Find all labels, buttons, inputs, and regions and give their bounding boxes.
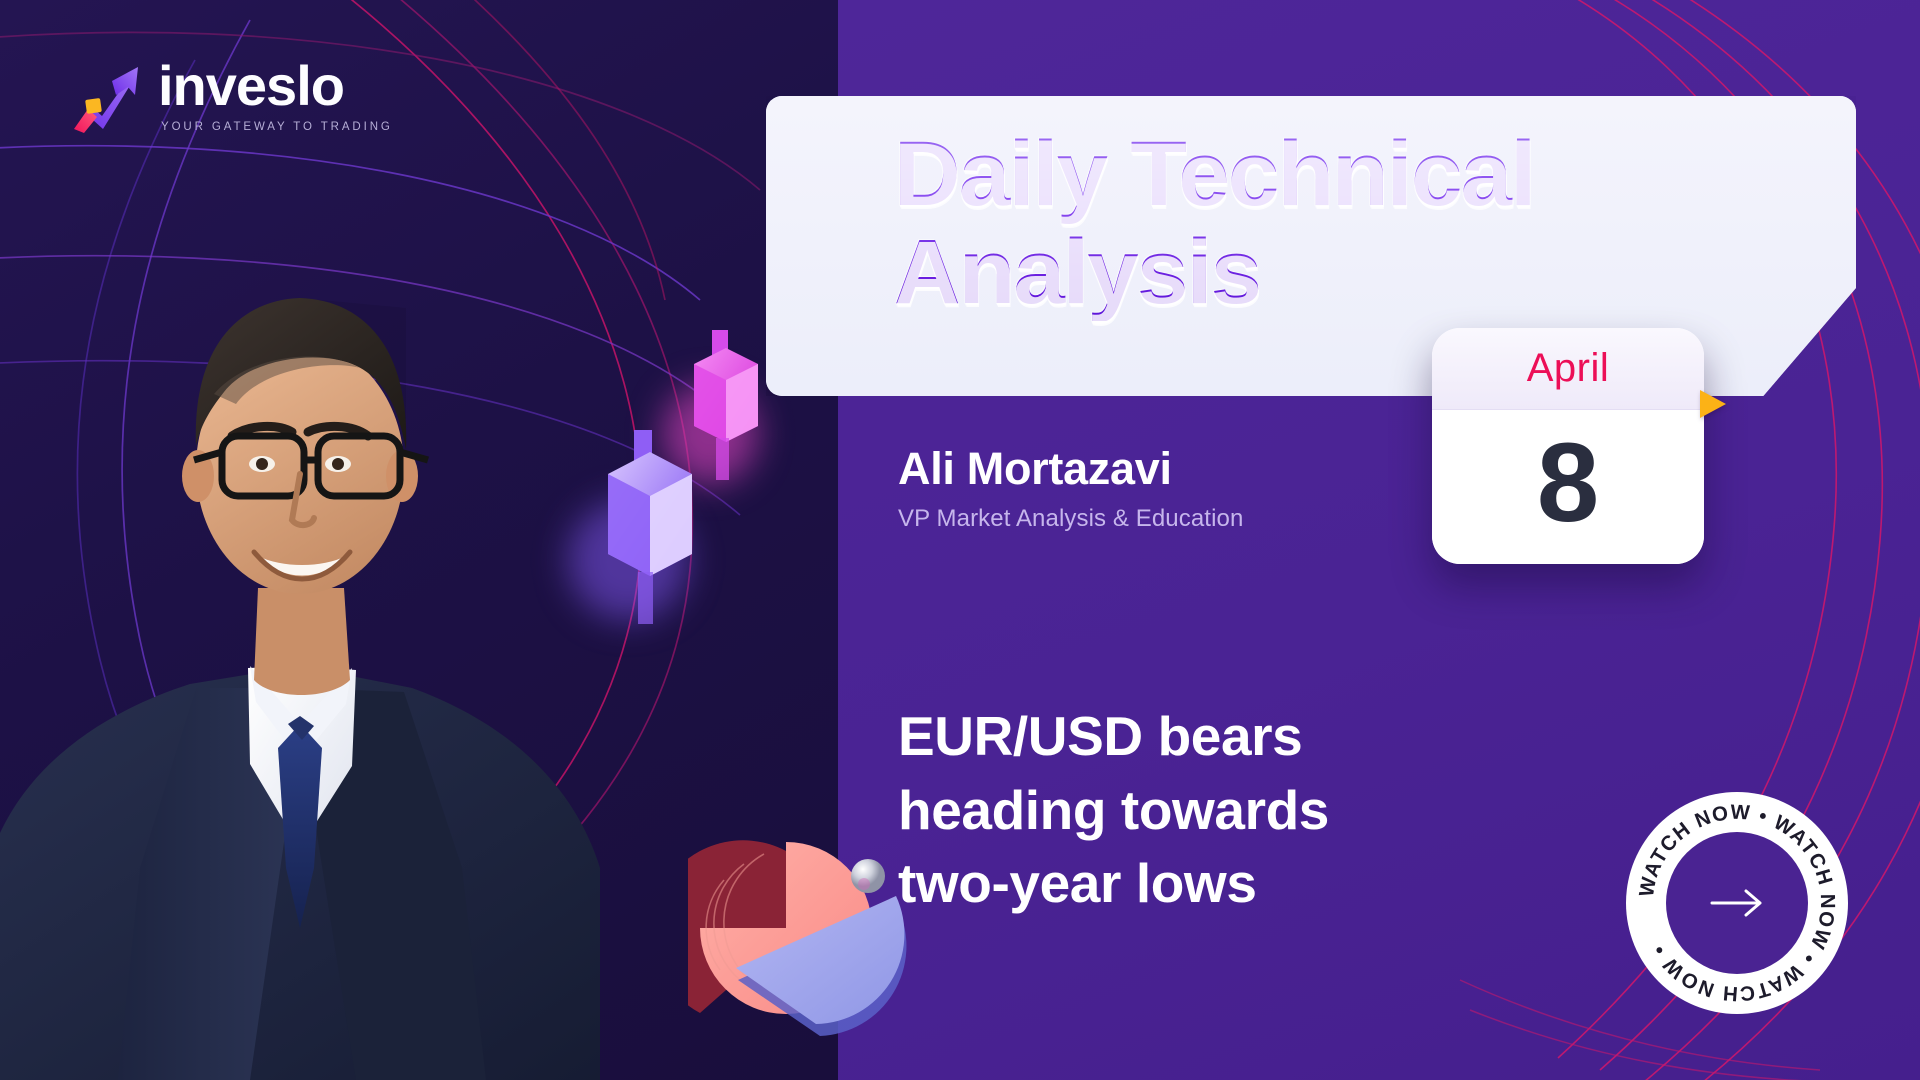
arrow-growth-icon bbox=[72, 59, 142, 133]
headline-line-3: two-year lows bbox=[898, 847, 1329, 921]
presenter-portrait bbox=[0, 168, 600, 1080]
title-line-1: Daily Technical bbox=[894, 126, 1535, 224]
headline-line-1: EUR/USD bears bbox=[898, 700, 1329, 774]
pie-chart-3d-icon bbox=[688, 828, 918, 1048]
calendar-month: April bbox=[1527, 346, 1610, 391]
calendar-widget: April 8 bbox=[1432, 328, 1704, 564]
calendar-header: April bbox=[1432, 328, 1704, 410]
arrow-right-icon bbox=[1706, 887, 1768, 919]
calendar-day: 8 bbox=[1537, 427, 1599, 539]
watch-now-center[interactable] bbox=[1666, 832, 1808, 974]
watch-now-button[interactable]: WATCH NOW • WATCH NOW • WATCH NOW • bbox=[1626, 792, 1848, 1014]
speaker-name: Ali Mortazavi bbox=[898, 443, 1243, 495]
headline-line-2: heading towards bbox=[898, 774, 1329, 848]
brand-name: inveslo bbox=[158, 58, 393, 114]
promo-banner: inveslo YOUR GATEWAY TO TRADING bbox=[0, 0, 1920, 1080]
brand-logo[interactable]: inveslo YOUR GATEWAY TO TRADING bbox=[72, 58, 393, 133]
speaker-role: VP Market Analysis & Education bbox=[898, 505, 1243, 533]
candlestick-3d-icon bbox=[588, 430, 716, 665]
calendar-flag-icon bbox=[1700, 390, 1726, 418]
headline: EUR/USD bears heading towards two-year l… bbox=[898, 700, 1329, 921]
title-line-2: Analysis bbox=[894, 224, 1535, 322]
speaker-info: Ali Mortazavi VP Market Analysis & Educa… bbox=[898, 443, 1243, 533]
page-title: Daily Technical Analysis bbox=[894, 126, 1535, 321]
calendar-body: 8 bbox=[1432, 410, 1704, 564]
brand-tagline: YOUR GATEWAY TO TRADING bbox=[161, 121, 393, 133]
